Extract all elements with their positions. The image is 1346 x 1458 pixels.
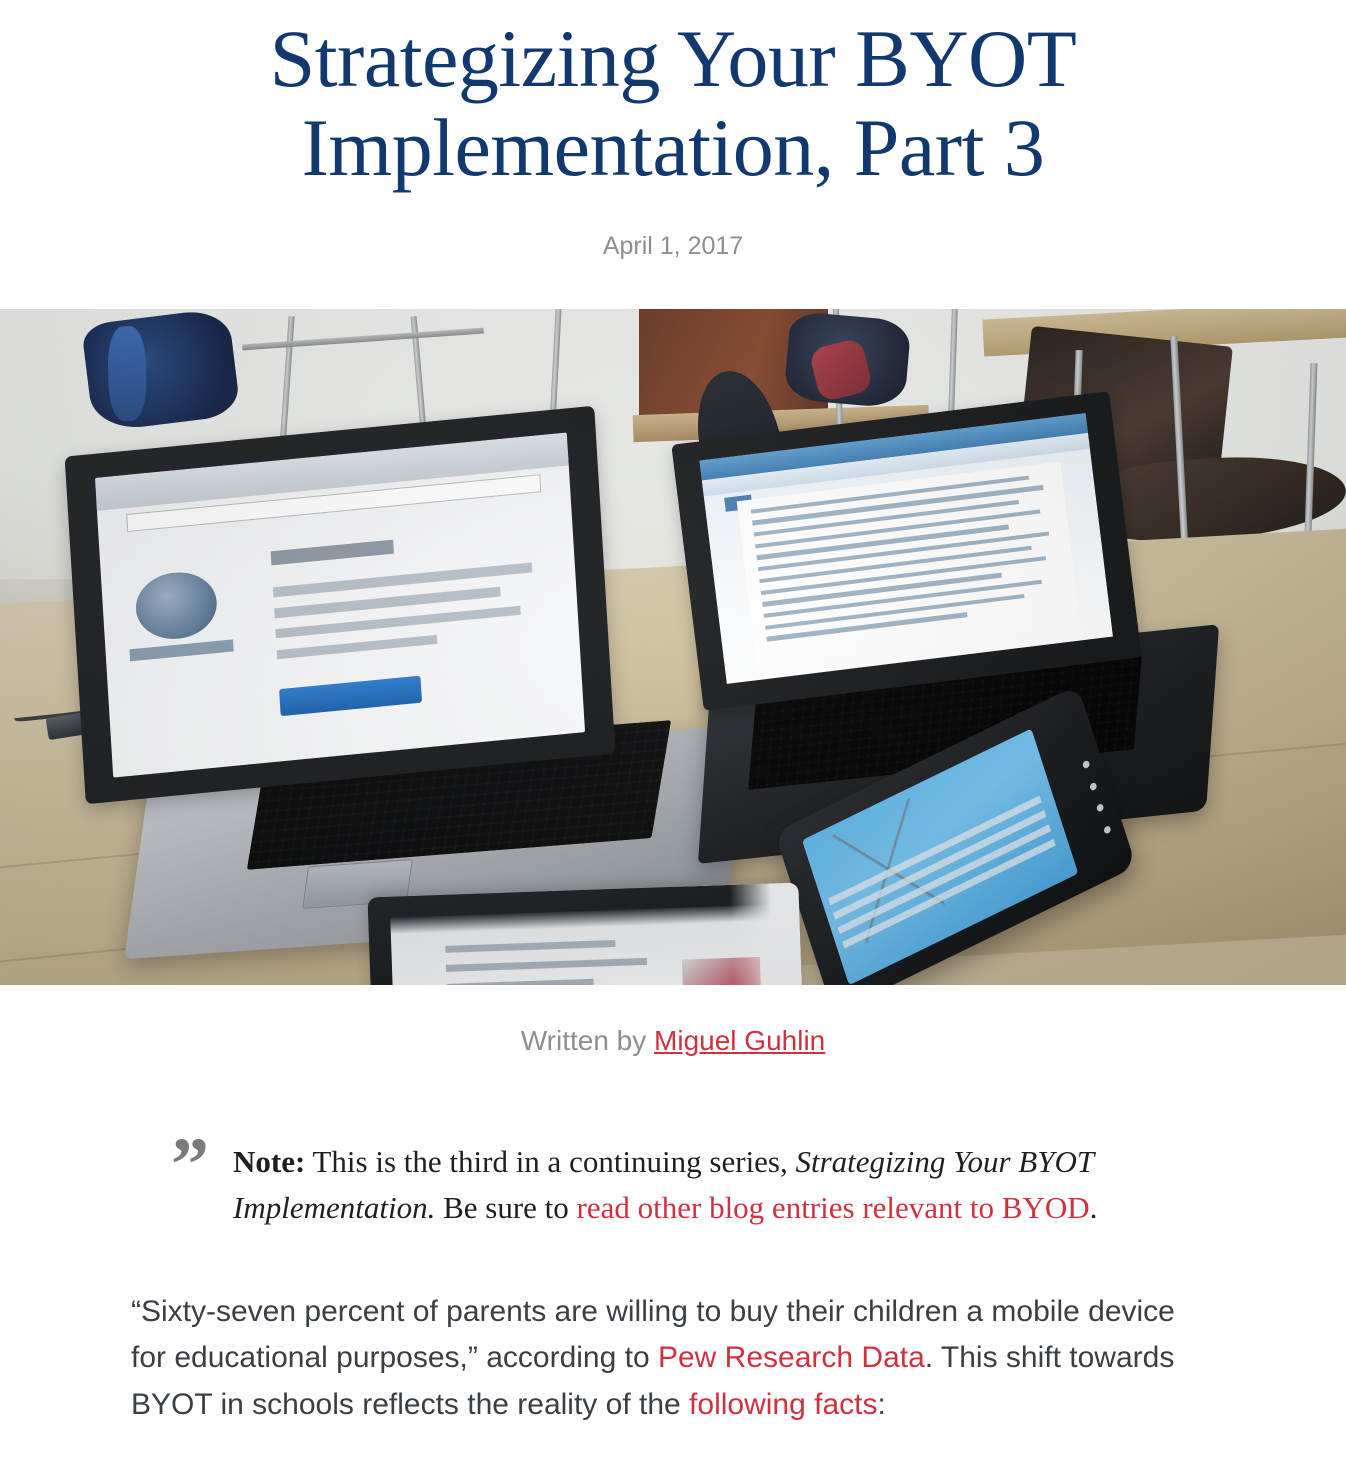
article-body: ”Note: This is the third in a continuing… [131, 1139, 1191, 1428]
byline-prefix: Written by [521, 1025, 654, 1056]
site-logo-text [129, 639, 233, 661]
page-title: Strategizing Your BYOT Implementation, P… [223, 15, 1123, 192]
author-link[interactable]: Miguel Guhlin [654, 1025, 825, 1056]
blog-post-page: BYOD Strategizing Your BYOT Implementati… [0, 0, 1346, 1458]
pew-research-data-link[interactable]: Pew Research Data [658, 1341, 925, 1374]
intro-paragraph: “Sixty-seven percent of parents are will… [131, 1289, 1191, 1429]
note-blockquote: ”Note: This is the third in a continuing… [171, 1139, 1151, 1231]
following-facts-link[interactable]: following facts [689, 1388, 877, 1421]
quote-icon: ” [171, 1127, 209, 1203]
document-body [737, 462, 1081, 667]
text-line [445, 940, 616, 953]
blue-backpack [81, 309, 241, 433]
post-header: BYOD Strategizing Your BYOT Implementati… [0, 0, 1346, 261]
site-logo [134, 569, 218, 642]
netbook-lid [672, 391, 1143, 711]
note-text-end: . [1090, 1190, 1098, 1225]
text-line [276, 635, 437, 660]
byod-entries-link[interactable]: read other blog entries relevant to BYOD [577, 1190, 1090, 1225]
silver-laptop-screen [95, 433, 585, 777]
note-text-before: This is the third in a continuing series… [305, 1144, 795, 1179]
note-label: Note: [233, 1144, 305, 1179]
white-tablet [368, 883, 804, 985]
classroom-devices-photo [0, 309, 1346, 985]
byline: Written by Miguel Guhlin [0, 1025, 1346, 1057]
silver-laptop [74, 431, 774, 958]
hero-image [0, 309, 1346, 985]
text-line [446, 958, 648, 972]
sign-in-button-onscreen [279, 675, 422, 715]
paragraph-part-3: : [877, 1388, 885, 1421]
page-heading-block [270, 540, 393, 565]
silver-laptop-lid [65, 405, 616, 804]
post-date: April 1, 2017 [0, 232, 1346, 261]
tablet-edge-highlight [729, 883, 803, 985]
text-line [447, 979, 594, 985]
note-text-after: Be sure to [435, 1190, 576, 1225]
netbook-screen [700, 413, 1113, 684]
white-tablet-screen [390, 905, 782, 986]
